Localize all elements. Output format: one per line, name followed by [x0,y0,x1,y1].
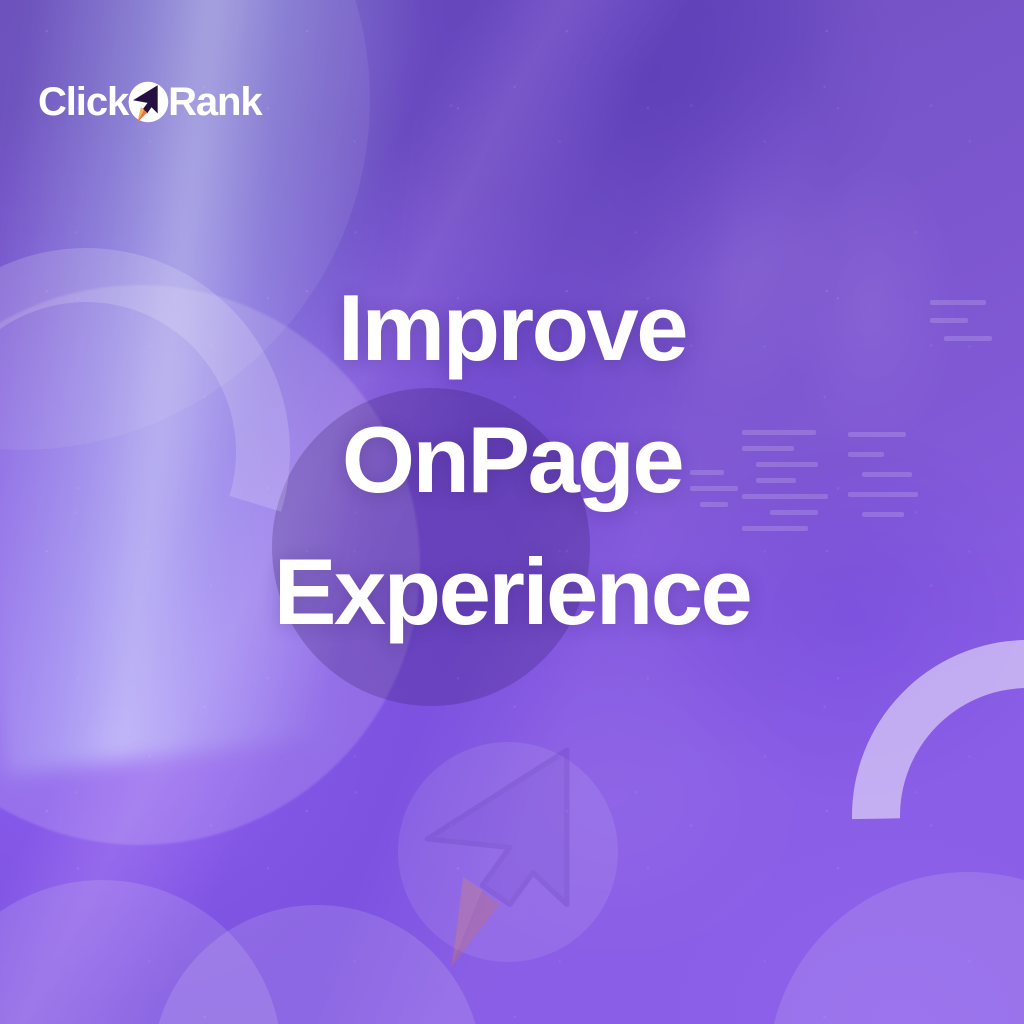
brand-logo[interactable]: Click Rank [38,76,262,128]
page-title: Improve OnPage Experience [0,262,1024,658]
rocket-arrow-icon-watermark [408,746,620,972]
brand-name-rank: Rank [168,76,261,128]
headline-line-3: Experience [0,526,1024,658]
social-card: Click Rank Improve OnPage Experience [0,0,1024,1024]
headline-line-2: OnPage [0,394,1024,526]
rocket-arrow-icon [126,80,170,124]
headline-line-1: Improve [0,262,1024,394]
brand-name-click: Click [38,76,128,128]
